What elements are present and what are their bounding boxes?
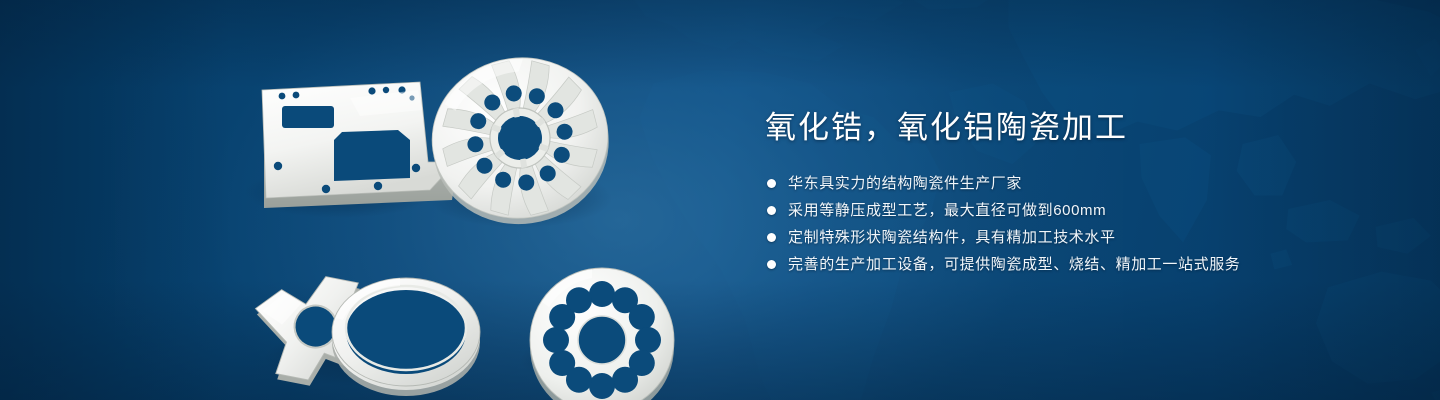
list-item-label: 采用等静压成型工艺，最大直径可做到600mm (788, 198, 1106, 223)
list-item: 采用等静压成型工艺，最大直径可做到600mm (767, 198, 1385, 223)
list-item: 定制特殊形状陶瓷结构件，具有精加工技术水平 (767, 225, 1385, 250)
bullet-dot-icon (767, 206, 776, 215)
bullet-dot-icon (767, 260, 776, 269)
page-title: 氧化锆，氧化铝陶瓷加工 (765, 108, 1385, 148)
list-item-label: 华东具实力的结构陶瓷件生产厂家 (788, 171, 1022, 196)
ceramic-products-image (230, 40, 700, 380)
feature-list: 华东具实力的结构陶瓷件生产厂家 采用等静压成型工艺，最大直径可做到600mm 定… (767, 171, 1385, 277)
part-ceramic-perforated-ring (530, 268, 674, 400)
ceramic-processing-banner: 氧化锆，氧化铝陶瓷加工 华东具实力的结构陶瓷件生产厂家 采用等静压成型工艺，最大… (0, 0, 1440, 400)
banner-copy: 氧化锆，氧化铝陶瓷加工 华东具实力的结构陶瓷件生产厂家 采用等静压成型工艺，最大… (765, 108, 1385, 279)
bullet-dot-icon (767, 179, 776, 188)
list-item: 华东具实力的结构陶瓷件生产厂家 (767, 171, 1385, 196)
list-item-label: 定制特殊形状陶瓷结构件，具有精加工技术水平 (788, 225, 1116, 250)
part-ceramic-plate (262, 82, 456, 208)
part-ceramic-thin-ring (332, 278, 480, 396)
list-item: 完善的生产加工设备，可提供陶瓷成型、烧结、精加工一站式服务 (767, 252, 1385, 277)
bullet-dot-icon (767, 233, 776, 242)
list-item-label: 完善的生产加工设备，可提供陶瓷成型、烧结、精加工一站式服务 (788, 252, 1240, 277)
